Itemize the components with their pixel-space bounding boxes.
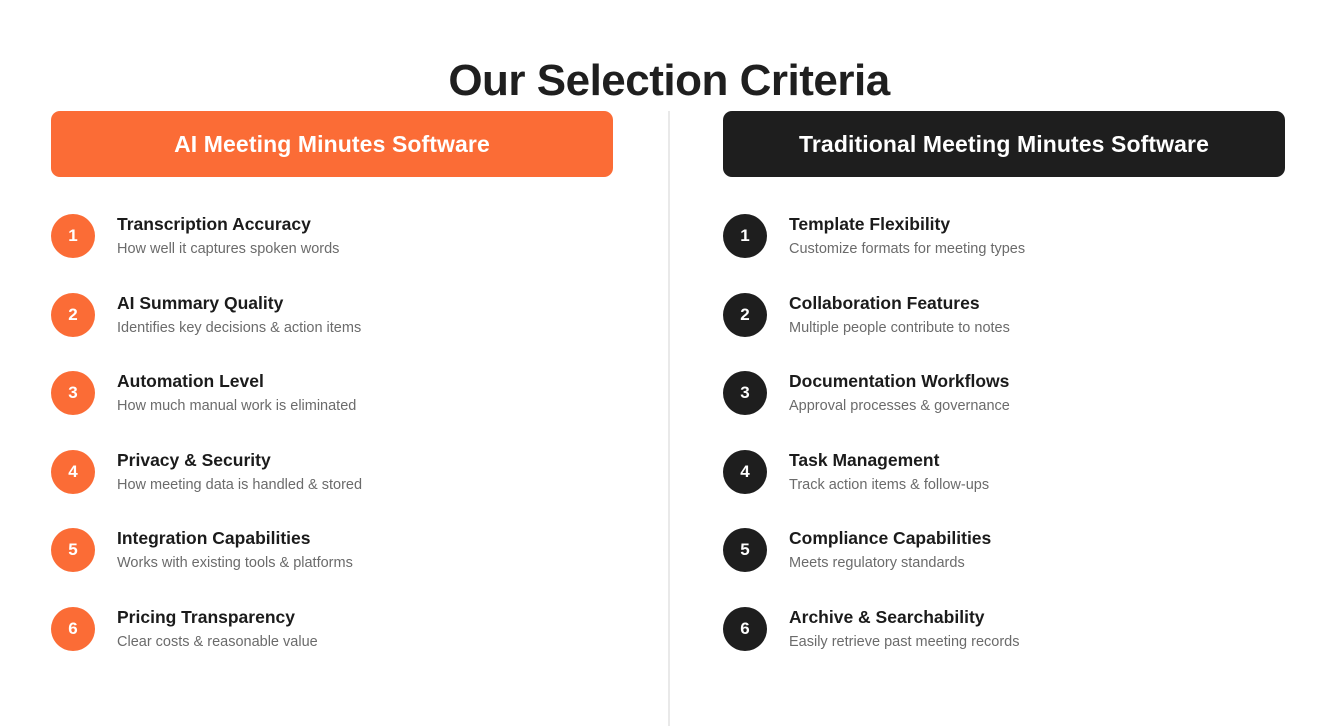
number-badge-label: 3 — [68, 383, 77, 403]
list-item-text: Collaboration Features Multiple people c… — [789, 291, 1010, 339]
list-item-title: Integration Capabilities — [117, 528, 311, 548]
list-item-title: AI Summary Quality — [117, 293, 283, 313]
list-item-text: AI Summary Quality Identifies key decisi… — [117, 291, 361, 339]
list-item-description: Clear costs & reasonable value — [117, 631, 318, 653]
number-badge-label: 2 — [740, 305, 749, 325]
column-ai-meeting-minutes-software: AI Meeting Minutes Software 1 Transcript… — [51, 111, 613, 699]
list-item-description: How much manual work is eliminated — [117, 395, 356, 417]
number-badge-label: 6 — [740, 619, 749, 639]
list-item-text: Task Management Track action items & fol… — [789, 448, 989, 496]
list-item-description: Easily retrieve past meeting records — [789, 631, 1020, 653]
list-item-title: Pricing Transparency — [117, 607, 295, 627]
list-item-description: Customize formats for meeting types — [789, 238, 1025, 260]
list-item-title: Transcription Accuracy — [117, 214, 311, 234]
list-item-text: Transcription Accuracy How well it captu… — [117, 212, 339, 260]
number-badge: 5 — [51, 528, 95, 572]
number-badge: 6 — [723, 607, 767, 651]
list-item-title: Archive & Searchability — [789, 607, 985, 627]
page-title: Our Selection Criteria — [0, 53, 1338, 109]
number-badge: 2 — [723, 293, 767, 337]
list-item: 5 Compliance Capabilities Meets regulato… — [723, 526, 1285, 605]
list-item-title: Collaboration Features — [789, 293, 980, 313]
list-item: 4 Privacy & Security How meeting data is… — [51, 448, 613, 527]
list-item-text: Documentation Workflows Approval process… — [789, 369, 1010, 417]
list-item-description: Meets regulatory standards — [789, 552, 991, 574]
list-item-description: Track action items & follow-ups — [789, 474, 989, 496]
list-item-title: Template Flexibility — [789, 214, 950, 234]
list-item-text: Compliance Capabilities Meets regulatory… — [789, 526, 991, 574]
criteria-columns: AI Meeting Minutes Software 1 Transcript… — [0, 111, 1338, 726]
list-item-title: Task Management — [789, 450, 939, 470]
number-badge-label: 5 — [740, 540, 749, 560]
list-item-description: Works with existing tools & platforms — [117, 552, 353, 574]
list-item: 2 AI Summary Quality Identifies key deci… — [51, 291, 613, 370]
list-item-description: Multiple people contribute to notes — [789, 317, 1010, 339]
criteria-list-ai: 1 Transcription Accuracy How well it cap… — [51, 212, 613, 683]
list-item-text: Integration Capabilities Works with exis… — [117, 526, 353, 574]
number-badge: 6 — [51, 607, 95, 651]
column-divider — [668, 111, 670, 726]
list-item-description: How well it captures spoken words — [117, 238, 339, 260]
list-item: 4 Task Management Track action items & f… — [723, 448, 1285, 527]
list-item: 3 Automation Level How much manual work … — [51, 369, 613, 448]
criteria-list-traditional: 1 Template Flexibility Customize formats… — [723, 212, 1285, 683]
column-traditional-meeting-minutes-software: Traditional Meeting Minutes Software 1 T… — [723, 111, 1285, 699]
number-badge-label: 5 — [68, 540, 77, 560]
list-item-description: Identifies key decisions & action items — [117, 317, 361, 339]
list-item-description: How meeting data is handled & stored — [117, 474, 362, 496]
list-item-title: Privacy & Security — [117, 450, 271, 470]
column-header-ai: AI Meeting Minutes Software — [51, 111, 613, 177]
number-badge-label: 4 — [68, 462, 77, 482]
list-item-text: Pricing Transparency Clear costs & reaso… — [117, 605, 318, 653]
number-badge: 2 — [51, 293, 95, 337]
number-badge: 1 — [723, 214, 767, 258]
list-item: 5 Integration Capabilities Works with ex… — [51, 526, 613, 605]
list-item-title: Compliance Capabilities — [789, 528, 991, 548]
column-header-traditional-label: Traditional Meeting Minutes Software — [799, 131, 1209, 158]
list-item-text: Template Flexibility Customize formats f… — [789, 212, 1025, 260]
number-badge-label: 2 — [68, 305, 77, 325]
list-item: 1 Template Flexibility Customize formats… — [723, 212, 1285, 291]
list-item: 6 Pricing Transparency Clear costs & rea… — [51, 605, 613, 684]
number-badge: 4 — [51, 450, 95, 494]
number-badge: 4 — [723, 450, 767, 494]
number-badge-label: 3 — [740, 383, 749, 403]
list-item-text: Archive & Searchability Easily retrieve … — [789, 605, 1020, 653]
number-badge: 5 — [723, 528, 767, 572]
number-badge-label: 4 — [740, 462, 749, 482]
number-badge: 1 — [51, 214, 95, 258]
number-badge: 3 — [723, 371, 767, 415]
list-item-title: Documentation Workflows — [789, 371, 1009, 391]
selection-criteria-infographic: Our Selection Criteria AI Meeting Minute… — [0, 0, 1338, 726]
list-item: 1 Transcription Accuracy How well it cap… — [51, 212, 613, 291]
column-header-traditional: Traditional Meeting Minutes Software — [723, 111, 1285, 177]
list-item-description: Approval processes & governance — [789, 395, 1010, 417]
number-badge-label: 6 — [68, 619, 77, 639]
number-badge-label: 1 — [740, 226, 749, 246]
list-item-text: Privacy & Security How meeting data is h… — [117, 448, 362, 496]
list-item: 6 Archive & Searchability Easily retriev… — [723, 605, 1285, 684]
list-item-title: Automation Level — [117, 371, 264, 391]
list-item-text: Automation Level How much manual work is… — [117, 369, 356, 417]
list-item: 3 Documentation Workflows Approval proce… — [723, 369, 1285, 448]
column-header-ai-label: AI Meeting Minutes Software — [174, 131, 490, 158]
list-item: 2 Collaboration Features Multiple people… — [723, 291, 1285, 370]
number-badge-label: 1 — [68, 226, 77, 246]
number-badge: 3 — [51, 371, 95, 415]
